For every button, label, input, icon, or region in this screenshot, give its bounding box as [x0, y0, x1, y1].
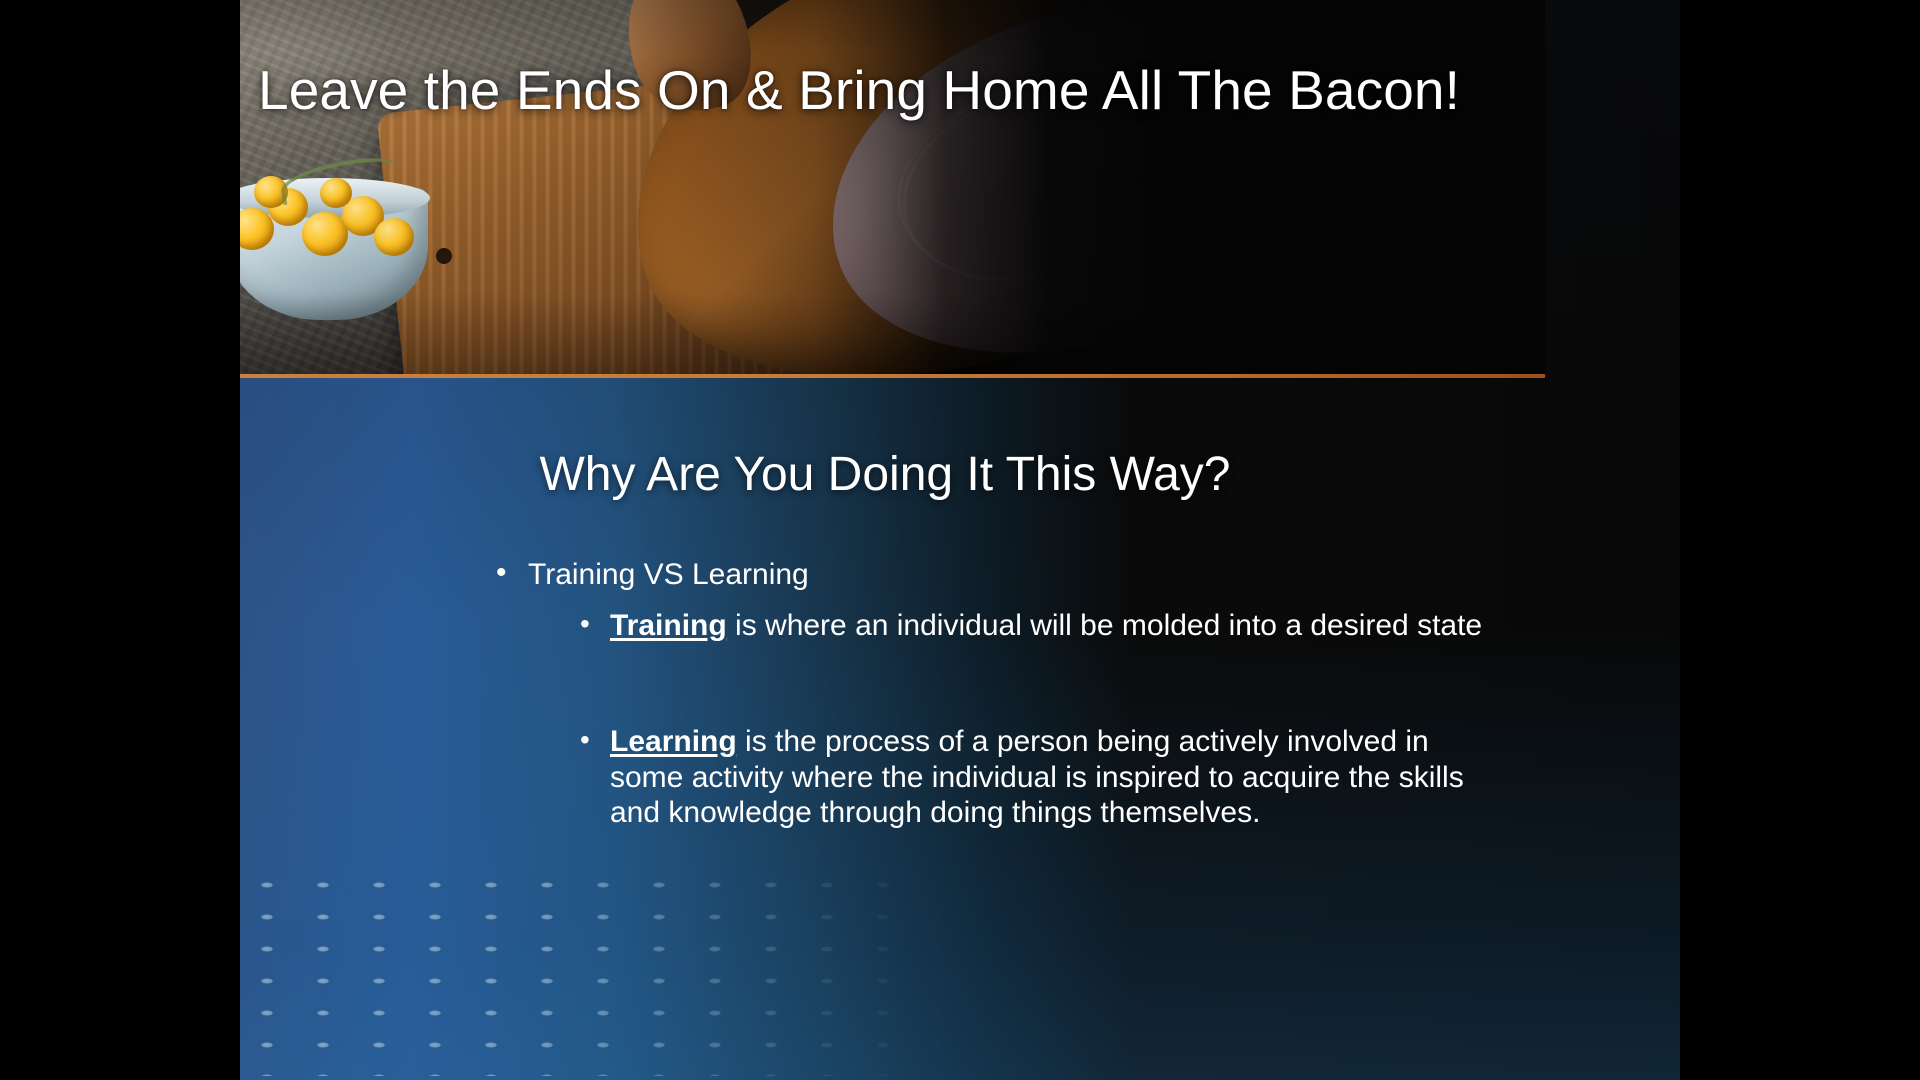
content-heading: Why Are You Doing It This Way?: [240, 447, 1530, 502]
bullet-lead-learning: Learning: [610, 725, 737, 758]
hero-fade-edges: [240, 0, 1545, 374]
slide-title: Leave the Ends On & Bring Home All The B…: [258, 62, 1658, 120]
bullet-list-level-2: Training is where an individual will be …: [528, 608, 1488, 831]
accent-divider-rule: [240, 374, 1545, 378]
bullet-item-training-definition: Training is where an individual will be …: [570, 608, 1488, 644]
bullet-lead-training: Training: [610, 609, 727, 642]
hero-image: [240, 0, 1545, 374]
presentation-slide: Leave the Ends On & Bring Home All The B…: [240, 0, 1680, 1080]
bullet-text-training: is where an individual will be molded in…: [727, 609, 1482, 642]
bullet-text-learning: is the process of a person being activel…: [610, 725, 1464, 829]
bullet-text-level-1: Training VS Learning: [528, 558, 809, 591]
bullet-list-level-1: Training VS Learning Training is where a…: [488, 556, 1488, 831]
screenshot-viewport: Leave the Ends On & Bring Home All The B…: [0, 0, 1920, 1080]
slide-body: Training VS Learning Training is where a…: [488, 556, 1488, 837]
bullet-item-learning-definition: Learning is the process of a person bein…: [570, 724, 1488, 831]
bullet-item-training-vs-learning: Training VS Learning Training is where a…: [488, 556, 1488, 831]
